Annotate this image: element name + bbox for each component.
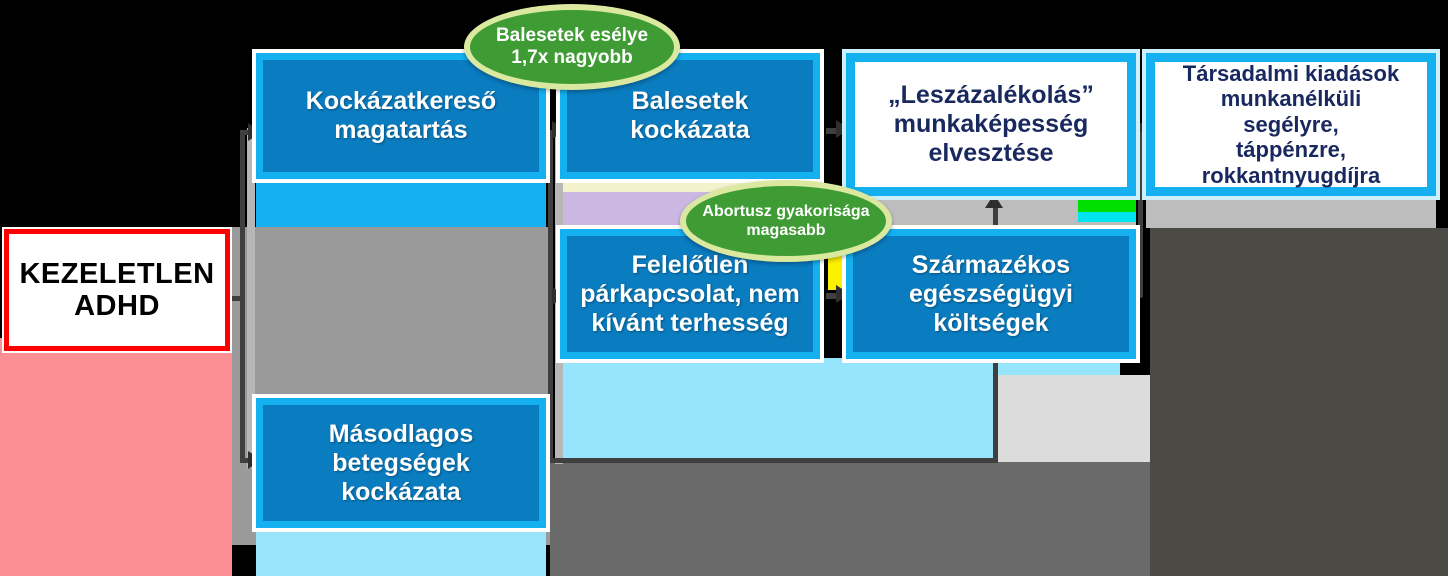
node-disability-loss-of-capacity[interactable]: „Leszázalékolás” munkaképesség elvesztés… [846,53,1136,196]
callout-abortion-rate[interactable]: Abortusz gyakorisága magasabb [680,180,892,262]
node-kezeletlen-adhd[interactable]: KEZELETLEN ADHD [4,229,230,351]
connector-root-shadow [247,128,255,468]
background-sliver-cyan [1078,212,1136,222]
connector-derived-to-social-vertical [1138,132,1143,297]
background-sliver-green [1078,200,1136,212]
background-panel-gray-column4 [1146,196,1436,228]
node-derived-health-costs[interactable]: Származékos egészségügyi költségek [846,229,1136,359]
connector-bottom-horizontal [548,458,998,463]
background-panel-pink [0,338,232,576]
node-social-expenditure[interactable]: Társadalmi kiadások munkanélküli segélyr… [1146,53,1436,196]
callout-accident-odds[interactable]: Balesetek esélye 1,7x nagyobb [464,4,680,90]
node-secondary-illness[interactable]: Másodlagos betegségek kockázata [256,398,546,528]
arrow-to-disability [985,194,1003,208]
background-panel-darkgray-right [1150,228,1448,576]
background-panel-cyan-top [256,175,546,227]
diagram-canvas: KEZELETLEN ADHD Kockázatkereső magatartá… [0,0,1448,576]
background-panel-gray-lower [995,375,1150,462]
background-panel-cyan-bottom [256,527,546,576]
background-panel-darkgray-bottom [550,462,1150,576]
